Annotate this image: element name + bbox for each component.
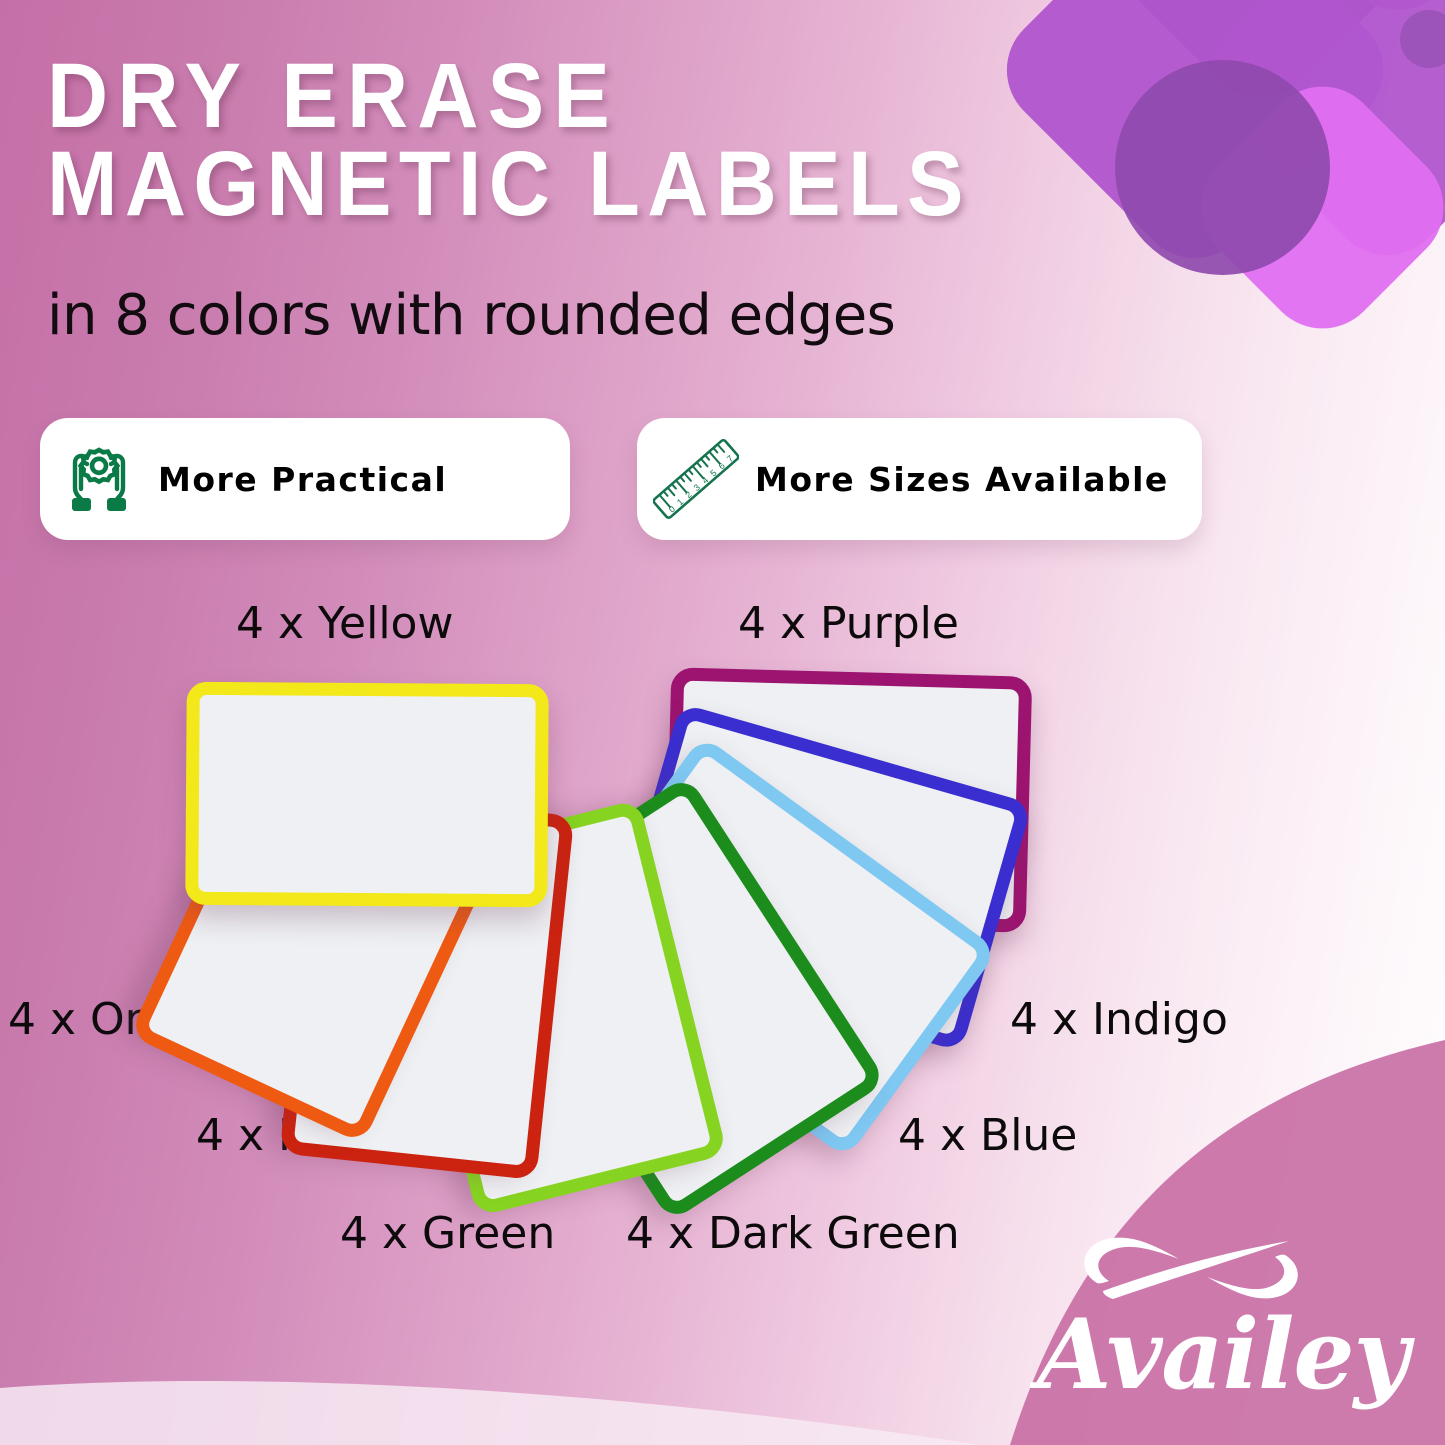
caption-green: 4 x Green xyxy=(340,1208,555,1259)
caption-dark-green: 4 x Dark Green xyxy=(626,1208,960,1259)
caption-indigo: 4 x Indigo xyxy=(1010,994,1228,1045)
brand-name: Availey xyxy=(1037,1298,1397,1411)
brand-logo: Availey xyxy=(1037,1225,1397,1415)
caption-yellow: 4 x Yellow xyxy=(236,598,453,649)
caption-blue: 4 x Blue xyxy=(898,1110,1077,1161)
board-yellow xyxy=(185,682,549,908)
product-infographic: DRY ERASE MAGNETIC LABELS in 8 colors wi… xyxy=(0,0,1445,1445)
caption-purple: 4 x Purple xyxy=(738,598,959,649)
